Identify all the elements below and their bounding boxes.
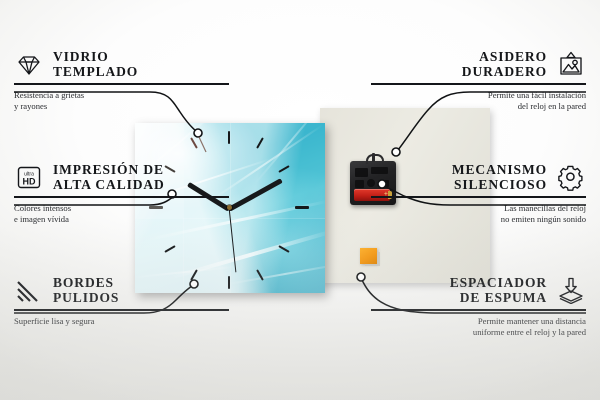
desc-line-1: Resistencia a grietas (14, 90, 229, 101)
title-line-1: ASIDERO (462, 50, 547, 65)
title-line-2: SILENCIOSO (452, 178, 547, 193)
divider (371, 196, 586, 198)
feature-title: BORDES PULIDOS (53, 276, 119, 305)
mechanism-shaft (372, 153, 375, 162)
svg-text:HD: HD (23, 177, 36, 187)
desc-line-1: Permite mantener una distancia (371, 316, 586, 327)
divider (14, 309, 229, 311)
divider (371, 83, 586, 85)
infographic-canvas: + (0, 0, 600, 400)
feature-description: Permite mantener una distancia uniforme … (371, 316, 586, 338)
desc-line-1: Colores intensos (14, 203, 229, 214)
clock-tick (228, 131, 230, 144)
desc-line-2: no emiten ningún sonido (371, 214, 586, 225)
feature-impresion-alta-calidad: ultra HD IMPRESIÓN DE ALTA CALIDAD Color… (14, 163, 229, 225)
title-line-1: BORDES (53, 276, 119, 291)
ultra-hd-icon: ultra HD (14, 164, 44, 191)
clock-tick (295, 206, 309, 209)
desc-line-2: del reloj en la pared (371, 101, 586, 112)
feature-mecanismo-silencioso: MECANISMO SILENCIOSO Las manecillas del … (371, 163, 586, 225)
feature-title: ASIDERO DURADERO (462, 50, 547, 79)
title-line-2: TEMPLADO (53, 65, 138, 80)
desc-line-1: Permite una fácil instalación (371, 90, 586, 101)
feature-bordes-pulidos: BORDES PULIDOS Superficie lisa y segura (14, 276, 229, 327)
foam-spacer (360, 248, 377, 264)
diamond-icon (14, 51, 44, 78)
title-line-2: ALTA CALIDAD (53, 178, 165, 193)
title-line-2: PULIDOS (53, 291, 119, 306)
mechanism-detail (355, 168, 368, 177)
desc-line-1: Superficie lisa y segura (14, 316, 229, 327)
feature-title: IMPRESIÓN DE ALTA CALIDAD (53, 163, 165, 192)
divider (14, 83, 229, 85)
gear-icon (556, 164, 586, 191)
feature-title: VIDRIO TEMPLADO (53, 50, 138, 79)
feature-description: Superficie lisa y segura (14, 316, 229, 327)
down-arrow-layers-icon (556, 277, 586, 304)
hanging-picture-icon (556, 51, 586, 78)
title-line-2: DURADERO (462, 65, 547, 80)
divider (371, 309, 586, 311)
title-line-1: IMPRESIÓN DE (53, 163, 165, 178)
feature-asidero-duradero: ASIDERO DURADERO Permite una fácil insta… (371, 50, 586, 112)
feature-description: Resistencia a grietas y rayones (14, 90, 229, 112)
feature-vidrio-templado: VIDRIO TEMPLADO Resistencia a grietas y … (14, 50, 229, 112)
title-line-1: ESPACIADOR (450, 276, 547, 291)
title-line-1: VIDRIO (53, 50, 138, 65)
feature-description: Colores intensos e imagen vívida (14, 203, 229, 225)
divider (14, 196, 229, 198)
desc-line-1: Las manecillas del reloj (371, 203, 586, 214)
feature-description: Las manecillas del reloj no emiten ningú… (371, 203, 586, 225)
desc-line-2: e imagen vívida (14, 214, 229, 225)
desc-line-2: uniforme entre el reloj y la pared (371, 327, 586, 338)
feature-description: Permite una fácil instalación del reloj … (371, 90, 586, 112)
feature-title: MECANISMO SILENCIOSO (452, 163, 547, 192)
title-line-2: DE ESPUMA (450, 291, 547, 306)
diagonal-lines-icon (14, 277, 44, 304)
mechanism-detail (355, 180, 364, 188)
feature-espaciador-de-espuma: ESPACIADOR DE ESPUMA Permite mantener un… (371, 276, 586, 338)
feature-title: ESPACIADOR DE ESPUMA (450, 276, 547, 305)
desc-line-2: y rayones (14, 101, 229, 112)
title-line-1: MECANISMO (452, 163, 547, 178)
